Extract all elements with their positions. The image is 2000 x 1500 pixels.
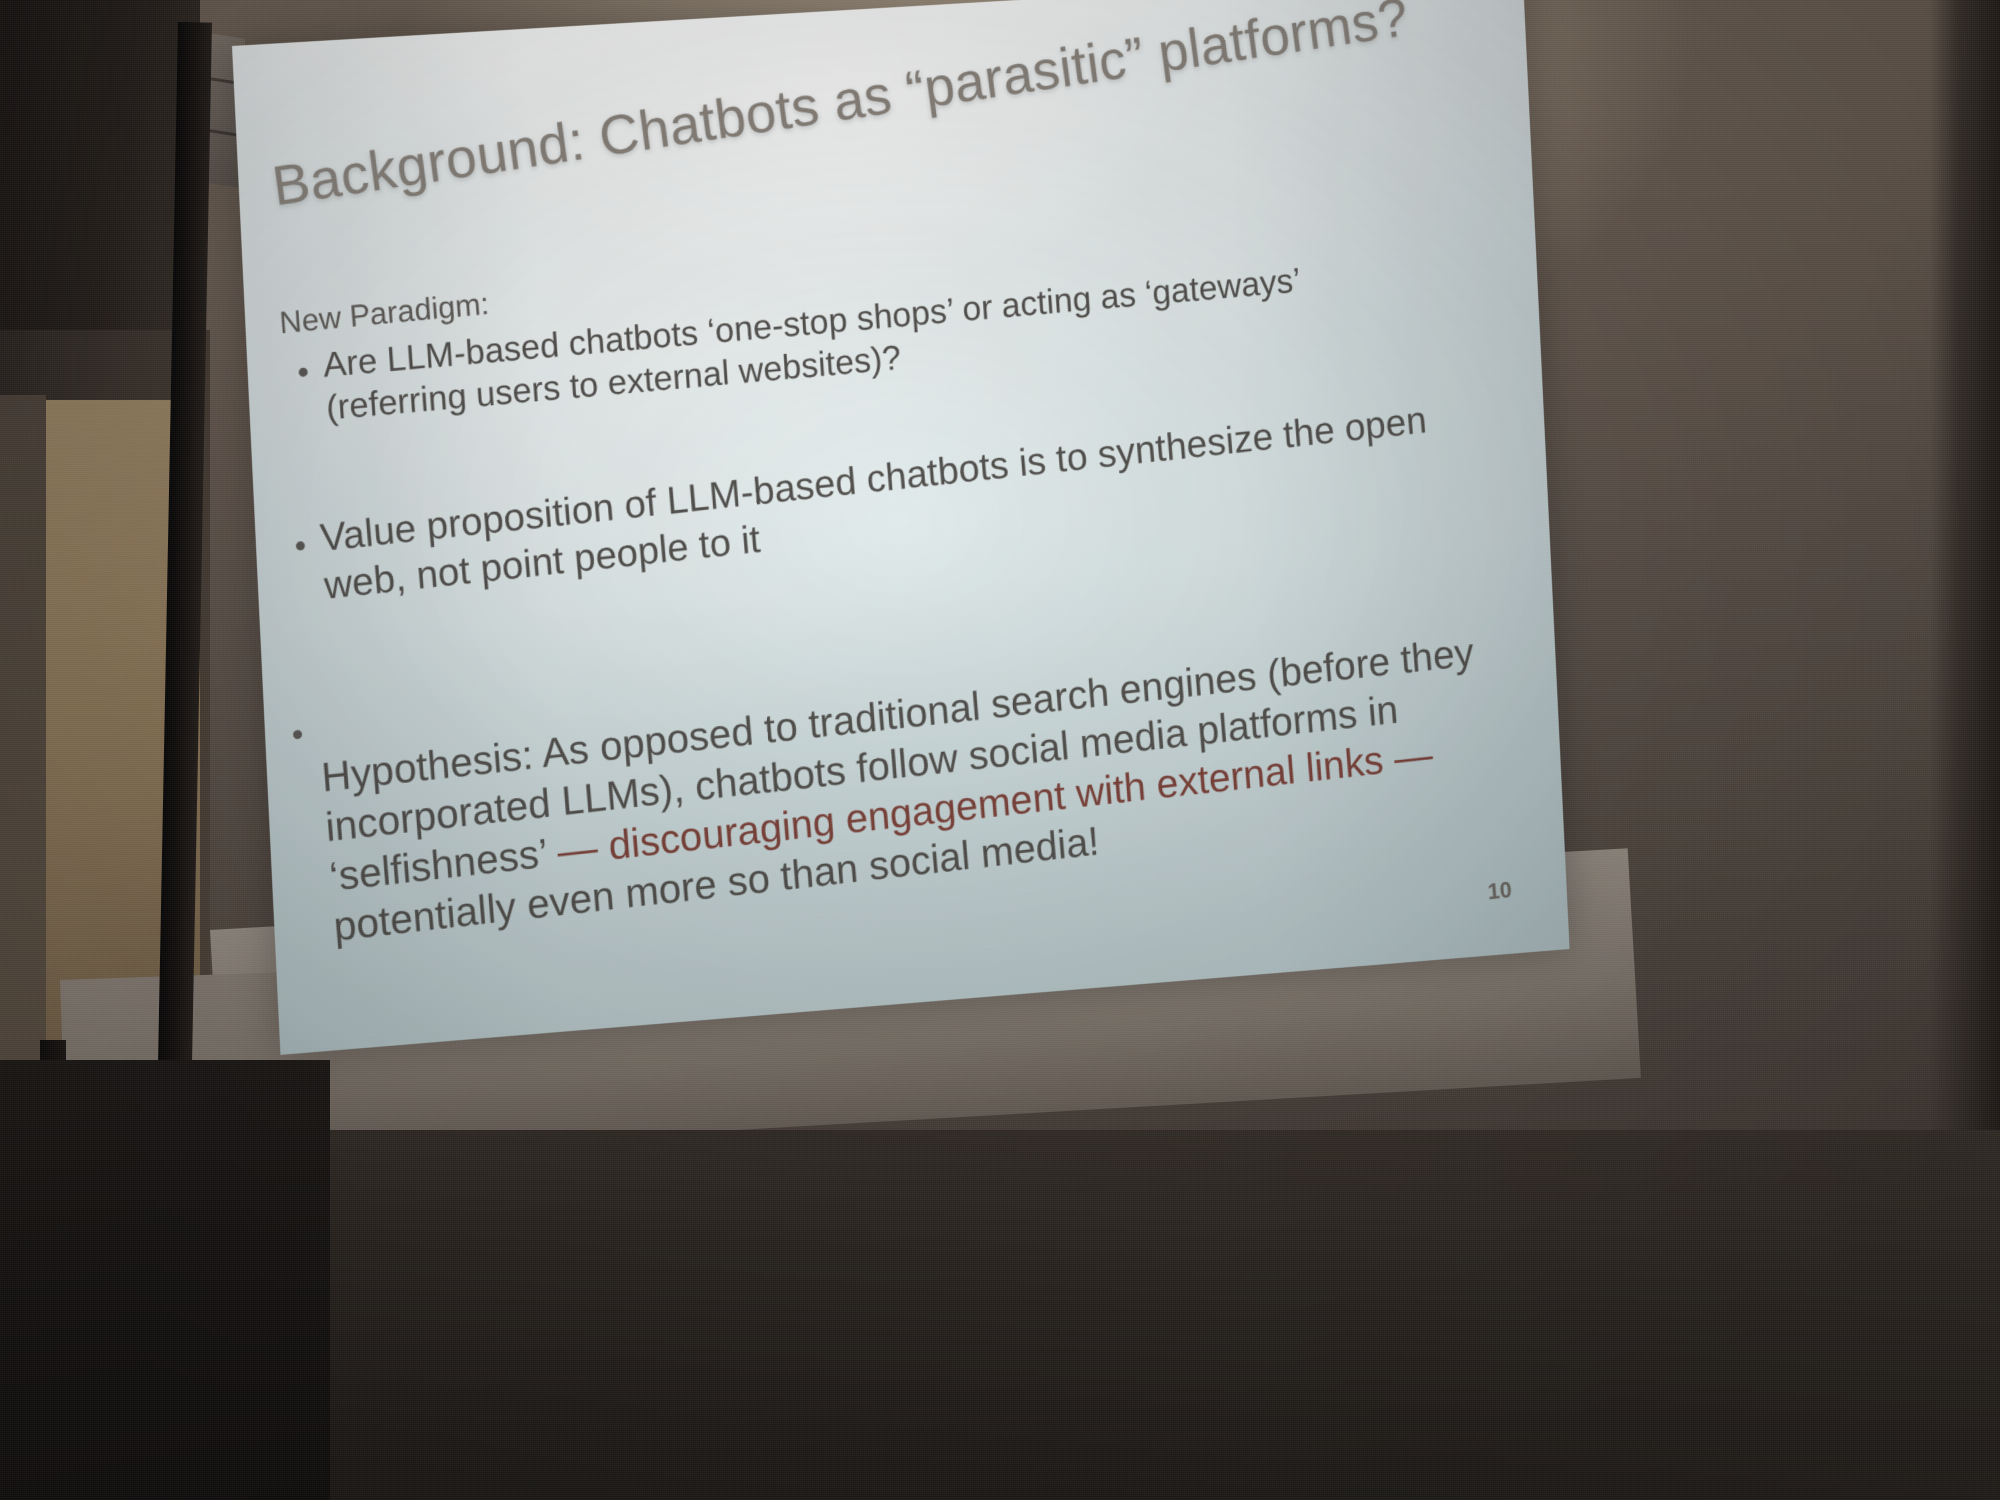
bullet-value-proposition-text: Value proposition of LLM-based chatbots … xyxy=(318,385,1545,611)
bullet-dot-icon xyxy=(293,729,303,739)
bullet-hypothesis: Hypothesis: As opposed to traditional se… xyxy=(291,570,1569,954)
bullet-dot-icon xyxy=(296,541,306,551)
slide-page-number: 10 xyxy=(1487,877,1513,906)
slide: Background: Chatbots as “parasitic” plat… xyxy=(232,0,1570,1055)
floor-shadow xyxy=(0,1060,330,1500)
bullet-dot-icon xyxy=(298,367,308,377)
photograph: Background: Chatbots as “parasitic” plat… xyxy=(0,0,2000,1500)
bullet-value-proposition: Value proposition of LLM-based chatbots … xyxy=(294,385,1546,614)
slide-body: New Paradigm: Are LLM-based chatbots ‘on… xyxy=(272,203,1567,944)
slide-title: Background: Chatbots as “parasitic” plat… xyxy=(268,0,1513,218)
bullet-hypothesis-text: Hypothesis: As opposed to traditional se… xyxy=(316,570,1569,951)
